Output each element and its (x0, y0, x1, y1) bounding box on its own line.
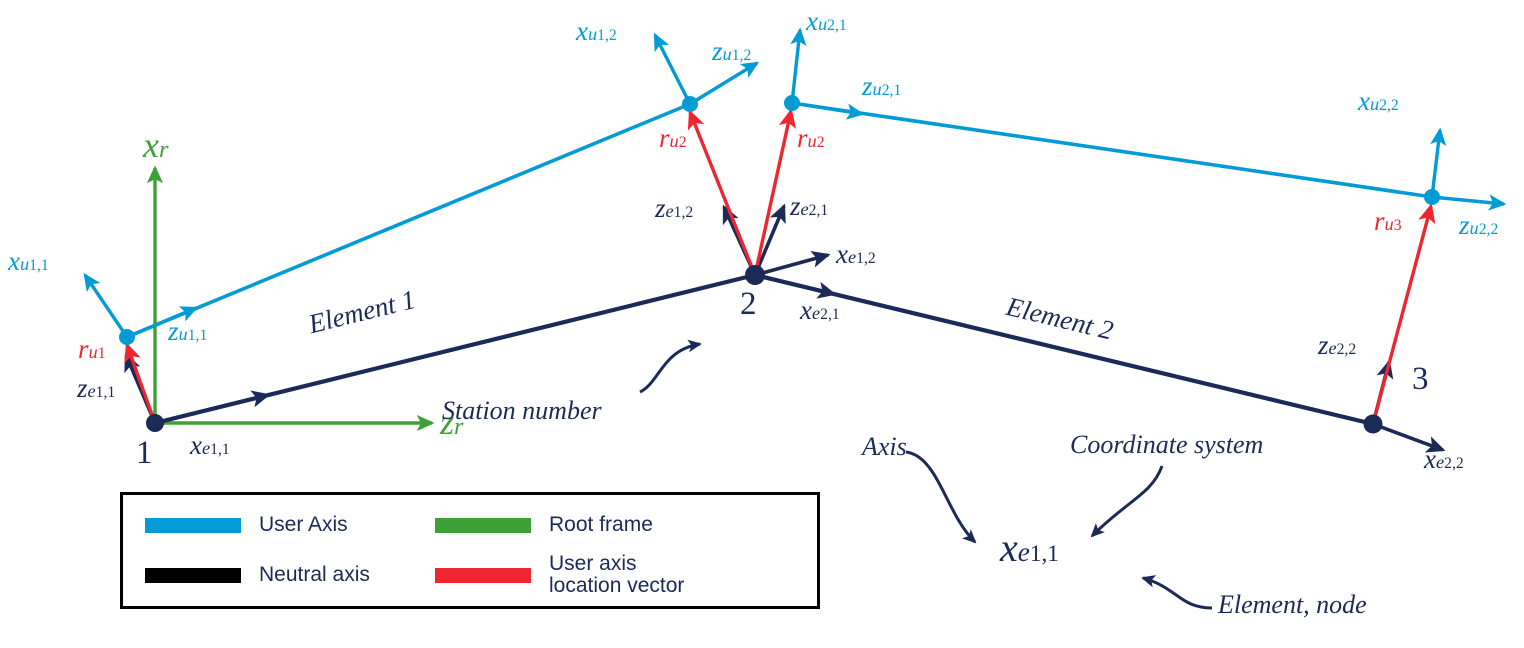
user-element-2-line (792, 103, 1432, 197)
legend-label-user-axis-location-vector: User axis location vector (549, 553, 684, 598)
station-number-3: 3 (1412, 363, 1429, 396)
callout-sample-symbol: xe1,1 (1000, 528, 1059, 568)
axis-leader (906, 452, 975, 542)
legend-swatch-root-frame (435, 518, 531, 533)
station-number-1: 1 (136, 437, 153, 470)
legend-item-user-axis-location-vector: User axis location vector (413, 553, 817, 598)
axis-label-x-u11: xu1,1 (8, 248, 49, 275)
element-node-leader (1143, 578, 1212, 608)
axis-x-e21 (755, 275, 834, 294)
user-node-12-dot (682, 96, 698, 112)
axis-z-u21 (792, 103, 862, 114)
legend-box: User Axis Root frame Neutral axis User a… (120, 492, 820, 609)
axis-label-x-u21: xu2,1 (806, 8, 847, 35)
vector-label-ru2-b: ru2 (797, 125, 825, 152)
axis-z-u22 (1432, 197, 1504, 204)
axis-label-x-e12: xe1,2 (836, 241, 876, 268)
callout-station-number: Station number (442, 398, 602, 424)
user-node-21-dot (784, 95, 800, 111)
vector-label-ru2-a: ru2 (659, 125, 687, 152)
station-node-dots (146, 265, 1383, 434)
callout-axis: Axis (862, 434, 907, 460)
station-node-3-dot (1364, 415, 1383, 434)
legend-swatch-user-axis-location-vector (435, 568, 531, 583)
legend-label-neutral-axis: Neutral axis (259, 564, 370, 587)
callout-element-node: Element, node (1218, 592, 1367, 618)
axis-x-e11 (155, 395, 268, 423)
axis-label-z-e21: ze2,1 (790, 193, 828, 220)
station-number-2: 2 (740, 288, 757, 321)
axis-x-e12 (755, 255, 828, 275)
legend-label-user-axis: User Axis (259, 514, 348, 537)
axis-x-u22 (1432, 130, 1440, 197)
legend-item-user-axis: User Axis (123, 514, 413, 537)
axis-label-z-u12: zu1,2 (712, 38, 751, 65)
legend-item-root-frame: Root frame (413, 514, 817, 537)
axis-label-z-u21: zu2,1 (862, 73, 901, 100)
station-node-2-dot (745, 265, 765, 285)
axis-x-u12 (655, 35, 690, 104)
location-vector-ru2-b (755, 111, 791, 275)
neutral-axis-beam (155, 275, 1373, 424)
axis-label-x-e21: xe2,1 (800, 297, 840, 324)
user-node-22-dot (1424, 189, 1440, 205)
legend-item-neutral-axis: Neutral axis (123, 564, 413, 587)
vector-label-ru3: ru3 (1374, 208, 1402, 235)
axis-label-z-u22: zu2,2 (1459, 212, 1498, 239)
legend-label-root-frame: Root frame (549, 514, 653, 537)
legend-swatch-neutral-axis (145, 568, 241, 583)
root-frame-x-label: xr (143, 127, 169, 163)
axis-label-z-u11: zu1,1 (168, 318, 207, 345)
axis-x-u21 (792, 30, 800, 103)
vector-label-ru1: ru1 (78, 336, 106, 363)
axis-x-u11 (85, 275, 127, 337)
axis-label-x-e11: xe1,1 (190, 432, 230, 459)
axis-label-z-e11: ze1,1 (77, 375, 115, 402)
user-axis-triads (85, 30, 1504, 337)
axis-label-z-e22: ze2,2 (1318, 332, 1356, 359)
location-vector-ru1 (127, 345, 155, 423)
axis-label-x-u12: xu1,2 (576, 18, 617, 45)
legend-swatch-user-axis (145, 518, 241, 533)
location-vector-ru2-a (690, 112, 755, 275)
station-number-leader (640, 344, 700, 392)
station-node-1-dot (146, 414, 164, 432)
axis-label-x-u22: xu2,2 (1358, 88, 1399, 115)
axis-label-x-e22: xe2,2 (1424, 446, 1464, 473)
element-2-neutral-line (755, 275, 1373, 424)
user-node-11-dot (119, 329, 135, 345)
callout-coordinate-system: Coordinate system (1070, 432, 1263, 458)
axis-label-z-e12: ze1,2 (655, 195, 693, 222)
diagram-canvas: xr zr 1 2 3 Element 1 Element 2 ze1,1 xe… (0, 0, 1524, 648)
coordinate-system-leader (1092, 466, 1162, 536)
axis-z-u12 (690, 63, 757, 104)
